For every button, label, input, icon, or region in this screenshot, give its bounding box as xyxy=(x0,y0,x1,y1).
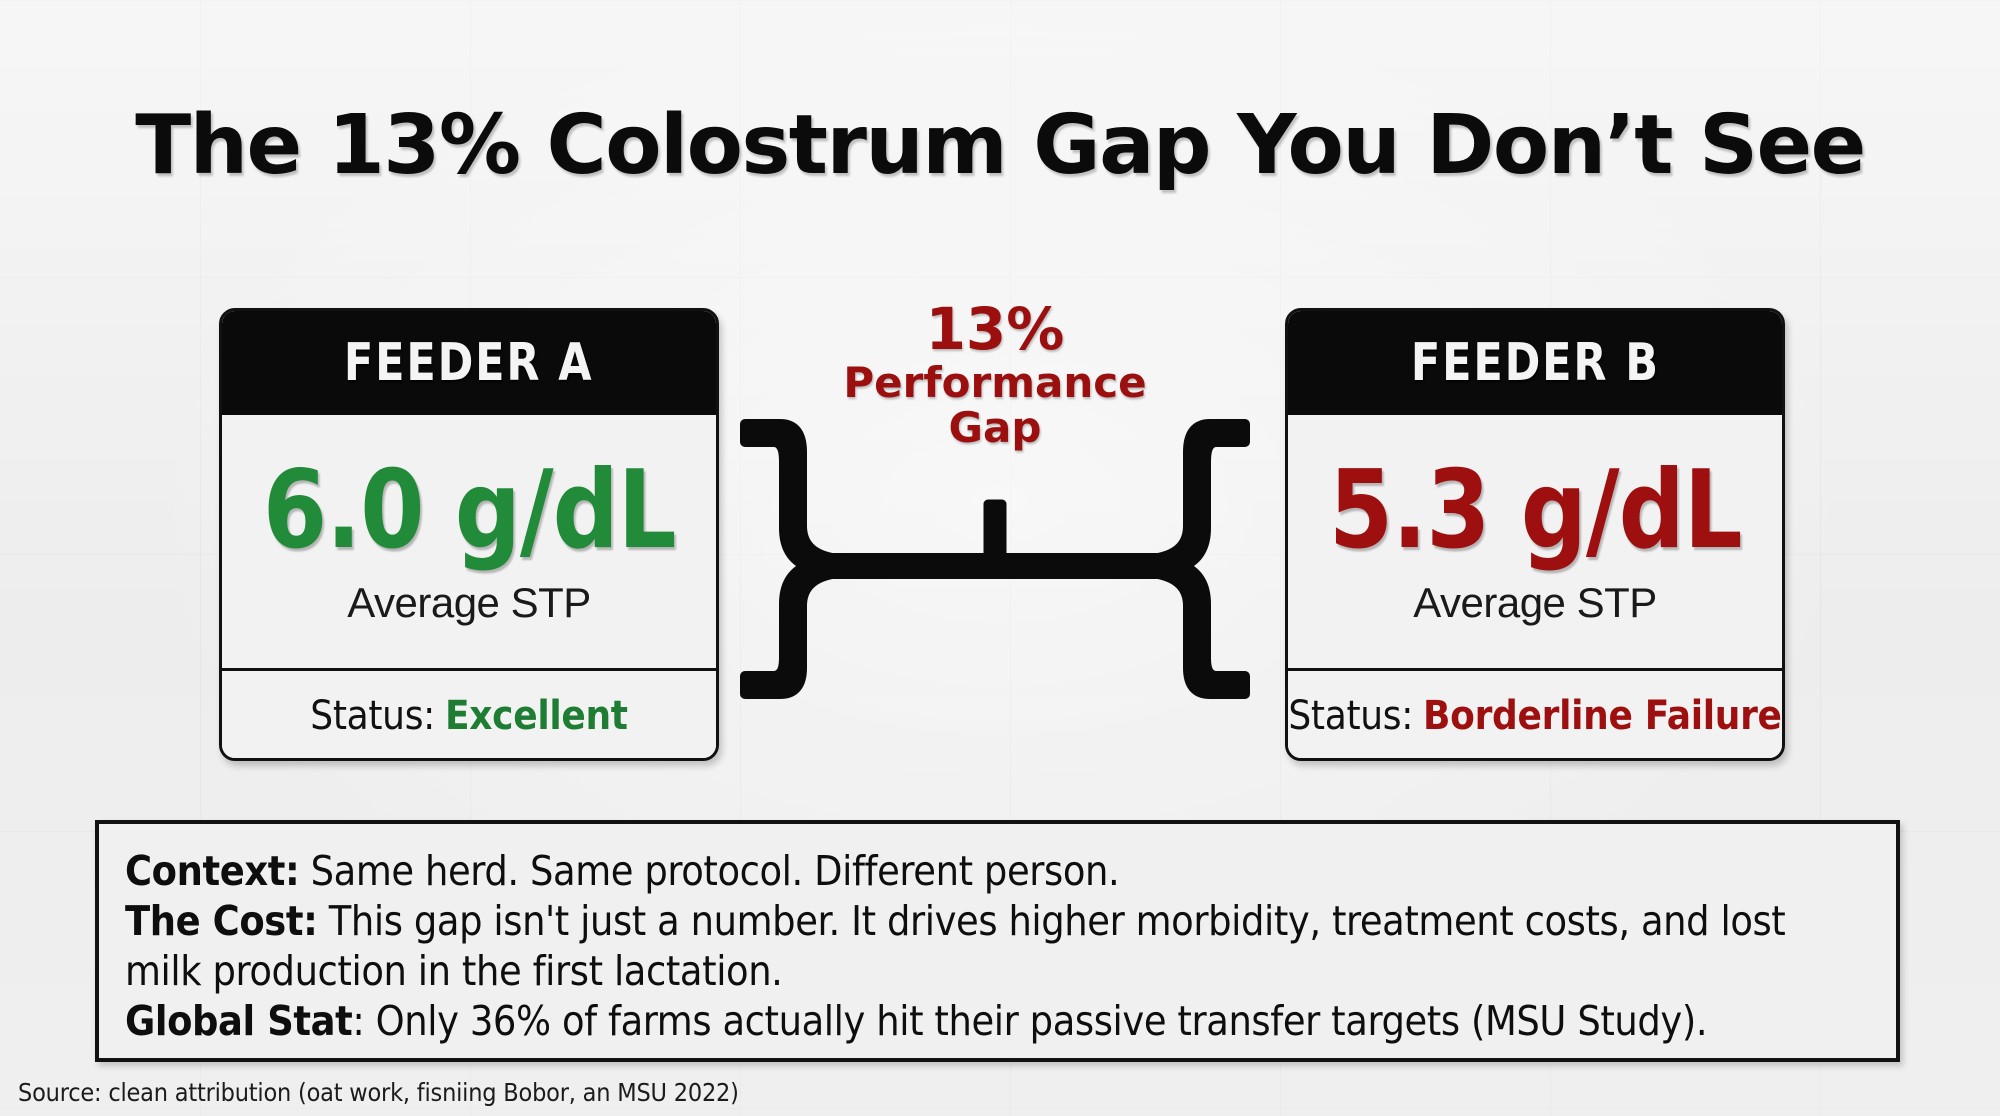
context-label-cost: The Cost: xyxy=(125,897,317,945)
gap-percent-label: 13% xyxy=(740,300,1250,359)
feeder-a-card: FEEDER A 6.0 g/dL Average STP Status: Ex… xyxy=(219,308,719,761)
source-attribution: Source: clean attribution (oat work, fis… xyxy=(18,1078,739,1107)
feeder-b-status-row: Status: Borderline Failure xyxy=(1288,671,1782,761)
feeder-b-value: 5.3 g/dL xyxy=(1329,457,1742,565)
feeder-a-status-prefix: Status: xyxy=(310,693,435,739)
context-text-context: Same herd. Same protocol. Different pers… xyxy=(299,847,1119,895)
feeder-a-header: FEEDER A xyxy=(222,311,716,415)
feeder-b-header-label: FEEDER B xyxy=(1410,333,1659,393)
feeder-b-metric-label: Average STP xyxy=(1413,579,1657,627)
feeder-a-value: 6.0 g/dL xyxy=(263,457,676,565)
left-brace-icon xyxy=(745,424,995,694)
feeder-b-status-badge: Borderline Failure xyxy=(1423,693,1782,739)
context-label-context: Context: xyxy=(125,847,299,895)
context-line-context: Context: Same herd. Same protocol. Diffe… xyxy=(125,846,1870,896)
context-label-global-stat: Global Stat xyxy=(125,997,352,1045)
context-text-global-stat: : Only 36% of farms actually hit their p… xyxy=(352,997,1707,1045)
context-text-cost: This gap isn't just a number. It drives … xyxy=(125,897,1785,995)
feeder-a-metric-label: Average STP xyxy=(347,579,591,627)
feeder-a-status-badge: Excellent xyxy=(445,693,628,739)
right-brace-icon xyxy=(995,424,1245,694)
feeder-b-status-prefix: Status: xyxy=(1288,693,1413,739)
page-title: The 13% Colostrum Gap You Don’t See xyxy=(0,98,2000,193)
context-box: Context: Same herd. Same protocol. Diffe… xyxy=(95,820,1900,1062)
infographic-canvas: The 13% Colostrum Gap You Don’t See FEED… xyxy=(0,0,2000,1116)
gap-braces-icon xyxy=(740,418,1250,700)
feeder-a-body: 6.0 g/dL Average STP xyxy=(222,415,716,668)
feeder-b-body: 5.3 g/dL Average STP xyxy=(1288,415,1782,668)
context-line-cost: The Cost: This gap isn't just a number. … xyxy=(125,896,1870,996)
context-line-global-stat: Global Stat: Only 36% of farms actually … xyxy=(125,996,1870,1046)
feeder-b-header: FEEDER B xyxy=(1288,311,1782,415)
performance-gap-block: 13% Performance Gap xyxy=(740,300,1250,700)
gap-caption-line-1: Performance xyxy=(843,358,1146,407)
feeder-b-card: FEEDER B 5.3 g/dL Average STP Status: Bo… xyxy=(1285,308,1785,761)
feeder-a-header-label: FEEDER A xyxy=(344,333,594,393)
feeder-a-status-row: Status: Excellent xyxy=(222,671,716,761)
